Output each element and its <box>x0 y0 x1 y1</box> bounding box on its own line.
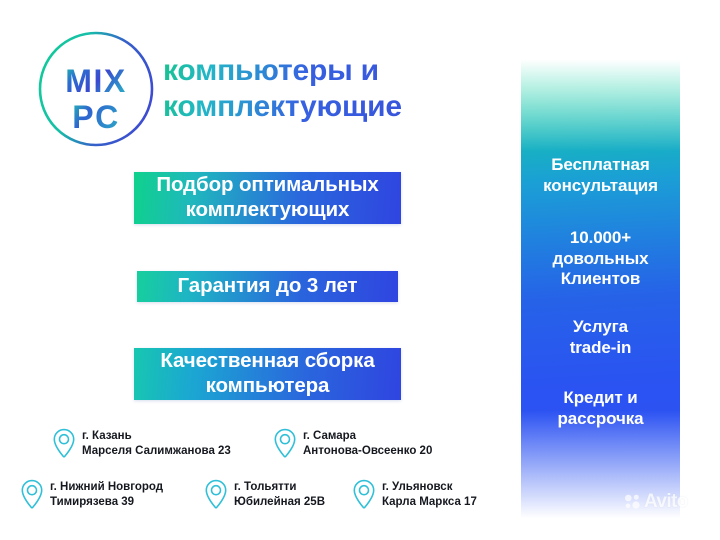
banner-line-2: компьютера <box>160 374 374 399</box>
location-city: г. Тольятти <box>234 480 325 495</box>
banner-line-1: Подбор оптимальных <box>156 173 378 198</box>
panel-line-1: 10.000+ <box>521 228 680 249</box>
location-street: Антонова-Овсеенко 20 <box>303 444 432 459</box>
brand-logo: MIX PC <box>36 29 156 149</box>
map-pin-icon <box>20 479 44 511</box>
location-street: Карла Маркса 17 <box>382 495 477 510</box>
map-pin-icon <box>352 479 376 511</box>
panel-line-2: довольных <box>521 249 680 270</box>
location-city: г. Ульяновск <box>382 480 477 495</box>
svg-text:MIX: MIX <box>65 63 126 99</box>
map-pin-icon <box>273 428 297 460</box>
banner-line-1: Качественная сборка <box>160 349 374 374</box>
location-street: Марселя Салимжанова 23 <box>82 444 231 459</box>
side-panel-item-credit: Кредит и рассрочка <box>521 388 680 429</box>
headline-line-1: компьютеры и <box>163 53 503 89</box>
map-pin-icon <box>204 479 228 511</box>
banner-line-2: комплектующих <box>156 198 378 223</box>
panel-line-2: консультация <box>521 176 680 197</box>
headline-line-2: комплектующие <box>163 89 503 125</box>
location-street: Тимирязева 39 <box>50 495 163 510</box>
panel-line-1: Услуга <box>521 317 680 338</box>
location-street: Юбилейная 25В <box>234 495 325 510</box>
location-ulyanovsk: г. Ульяновск Карла Маркса 17 <box>352 479 477 511</box>
panel-line-3: Клиентов <box>521 269 680 290</box>
location-tolyatti: г. Тольятти Юбилейная 25В <box>204 479 325 511</box>
location-city: г. Казань <box>82 429 231 444</box>
side-panel-item-clients: 10.000+ довольных Клиентов <box>521 228 680 290</box>
svg-text:PC: PC <box>72 99 119 135</box>
panel-line-2: trade-in <box>521 338 680 359</box>
panel-line-1: Бесплатная <box>521 155 680 176</box>
location-nizhny-novgorod: г. Нижний Новгород Тимирязева 39 <box>20 479 163 511</box>
advertisement-image: MIX PC компьютеры и комплектующие Подбор… <box>0 0 720 540</box>
avito-logo-icon <box>624 493 641 510</box>
panel-line-2: рассрочка <box>521 409 680 430</box>
location-kazan: г. Казань Марселя Салимжанова 23 <box>52 428 231 460</box>
feature-banner-quality-build: Качественная сборка компьютера <box>134 348 401 400</box>
side-panel: Бесплатная консультация 10.000+ довольны… <box>521 0 680 540</box>
avito-watermark-text: Avito <box>644 492 688 511</box>
feature-banner-warranty: Гарантия до 3 лет <box>137 271 398 302</box>
panel-line-1: Кредит и <box>521 388 680 409</box>
location-city: г. Самара <box>303 429 432 444</box>
page-title: компьютеры и комплектующие <box>163 53 503 124</box>
map-pin-icon <box>52 428 76 460</box>
side-panel-item-consultation: Бесплатная консультация <box>521 155 680 196</box>
location-city: г. Нижний Новгород <box>50 480 163 495</box>
banner-line-1: Гарантия до 3 лет <box>178 274 358 299</box>
side-panel-item-trade-in: Услуга trade-in <box>521 317 680 358</box>
avito-watermark: Avito <box>624 492 688 511</box>
feature-banner-optimal-parts: Подбор оптимальных комплектующих <box>134 172 401 224</box>
location-samara: г. Самара Антонова-Овсеенко 20 <box>273 428 432 460</box>
